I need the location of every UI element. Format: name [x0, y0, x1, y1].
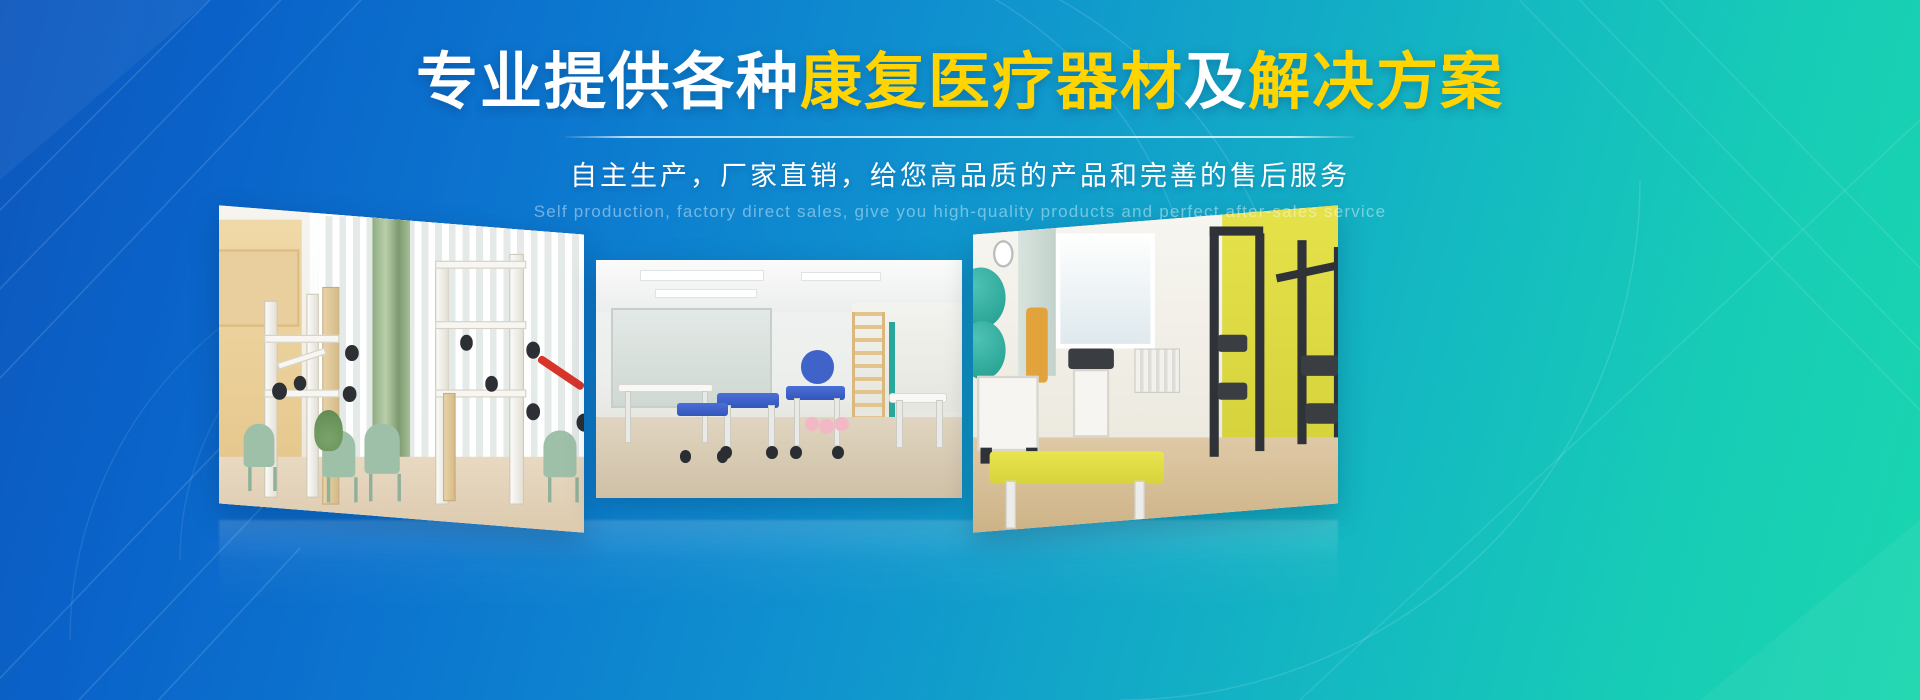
- photo-middle-scene: [596, 260, 962, 498]
- headline-segment-3: 及: [1184, 48, 1248, 117]
- promo-banner: 专业提供各种康复医疗器材及解决方案 自主生产，厂家直销，给您高品质的产品和完善的…: [0, 0, 1920, 700]
- headline-segment-1: 专业提供各种: [416, 48, 800, 117]
- photo-right[interactable]: [973, 205, 1338, 532]
- headline-segment-4: 解决方案: [1248, 48, 1504, 117]
- photo-left[interactable]: [219, 205, 584, 532]
- banner-headline: 专业提供各种康复医疗器材及解决方案: [416, 52, 1504, 114]
- photo-gallery: [0, 212, 1920, 542]
- headline-segment-2: 康复医疗器材: [800, 48, 1184, 117]
- banner-text-block: 专业提供各种康复医疗器材及解决方案 自主生产，厂家直销，给您高品质的产品和完善的…: [0, 52, 1920, 222]
- photo-right-scene: [973, 205, 1338, 532]
- banner-subtitle-en: Self production, factory direct sales, g…: [0, 202, 1920, 222]
- photo-left-scene: [219, 205, 584, 532]
- banner-subtitle-cn: 自主生产，厂家直销，给您高品质的产品和完善的售后服务: [0, 154, 1920, 193]
- headline-divider: [565, 136, 1355, 138]
- photo-middle[interactable]: [596, 260, 962, 498]
